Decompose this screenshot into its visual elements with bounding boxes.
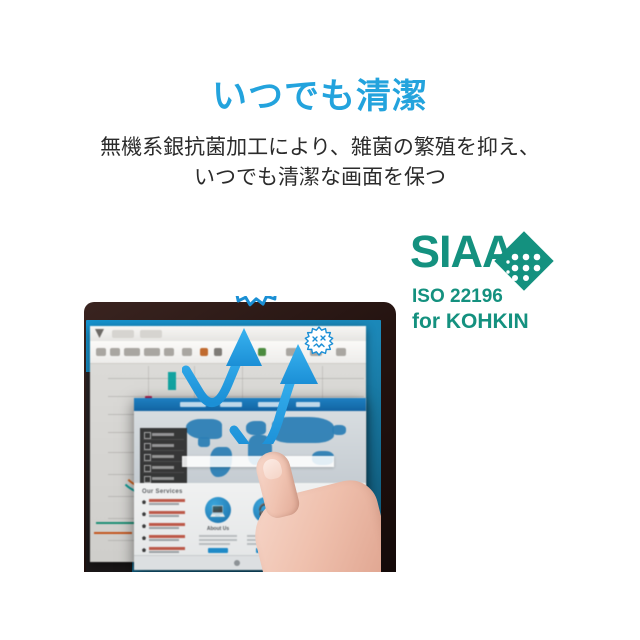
product-photo: Our Services [84,296,396,572]
sidebar-bullet-icon [144,476,151,483]
service-list-title [149,547,185,550]
service-list-item[interactable] [142,523,186,531]
bullet-icon [142,500,146,504]
subtitle-line-1: 無機系銀抗菌加工により、雑菌の繁殖を抑え、 [0,133,640,163]
ribbon-icon[interactable] [96,348,106,356]
service-list-item[interactable] [142,511,186,519]
ribbon-icon[interactable] [124,348,140,356]
headline-block: いつでも清潔 無機系銀抗菌加工により、雑菌の繁殖を抑え、 いつでも清潔な画面を保… [0,78,640,193]
service-card[interactable]: 💻 About Us [196,497,240,553]
spreadsheet-tab[interactable] [112,330,134,338]
fingertip [253,448,302,520]
footer-icon[interactable] [234,560,240,566]
sidebar-item-label [152,444,174,447]
chart-line-orange [94,532,132,534]
service-list-sub [149,503,179,505]
siaa-kohkin-text: for KOHKIN [412,310,529,334]
services-heading: Our Services [142,489,183,495]
ribbon-icon[interactable] [110,348,120,356]
ribbon-icon[interactable] [164,348,174,356]
ribbon-icon[interactable] [144,348,160,356]
service-list-title [149,535,185,538]
sidebar-item-label [152,455,174,458]
service-list-sub [149,515,179,517]
sidebar-bullet-icon [144,465,151,472]
service-list-sub [149,539,179,541]
spreadsheet-tab[interactable] [140,330,162,338]
laptop-icon: 💻 [205,497,231,523]
sidebar-item[interactable] [143,430,184,440]
laptop-screen: Our Services [86,320,381,572]
siaa-wordmark-row: SIAA [410,230,555,278]
sidebar-item-label [152,433,174,436]
bullet-icon [142,536,146,540]
sidebar-item[interactable] [143,441,184,451]
dead-germ-icon-small [304,326,334,356]
app-logo-icon [95,329,104,338]
service-list-sub [149,527,179,529]
service-list-sub [149,551,179,553]
laptop-chassis: Our Services [84,302,396,572]
sidebar-bullet-icon [144,432,151,439]
service-list-title [149,499,185,502]
sidebar-item-label [152,477,174,480]
sidebar-bullet-icon [144,443,151,450]
service-card-glyph: 💻 [210,504,226,517]
dead-germ-icon [217,296,291,308]
service-list-title [149,523,185,526]
service-card-text [196,535,240,545]
siaa-iso-text: ISO 22196 [412,286,503,308]
sidebar-item[interactable] [143,452,184,462]
chart-bar-teal [168,372,176,390]
service-list-title [149,511,185,514]
service-list-item[interactable] [142,535,186,543]
service-list-item[interactable] [142,499,186,507]
service-list-item[interactable] [142,547,186,555]
bullet-icon [142,524,146,528]
fingernail [261,457,283,481]
bullet-icon [142,512,146,516]
service-card-label: About Us [196,526,240,532]
site-sidebar-menu[interactable] [140,428,187,483]
siaa-logo: SIAA [410,230,555,340]
bullet-icon [142,548,146,552]
page-title: いつでも清潔 [0,78,640,117]
siaa-diamond-mark [493,230,555,292]
sidebar-item[interactable] [143,463,184,473]
service-card-button[interactable] [208,548,228,553]
sidebar-item[interactable] [143,474,184,483]
sidebar-item-label [152,466,174,469]
sidebar-bullet-icon [144,454,151,461]
subtitle-line-2: いつでも清潔な画面を保つ [0,163,640,193]
repel-arrow-left [186,328,262,403]
